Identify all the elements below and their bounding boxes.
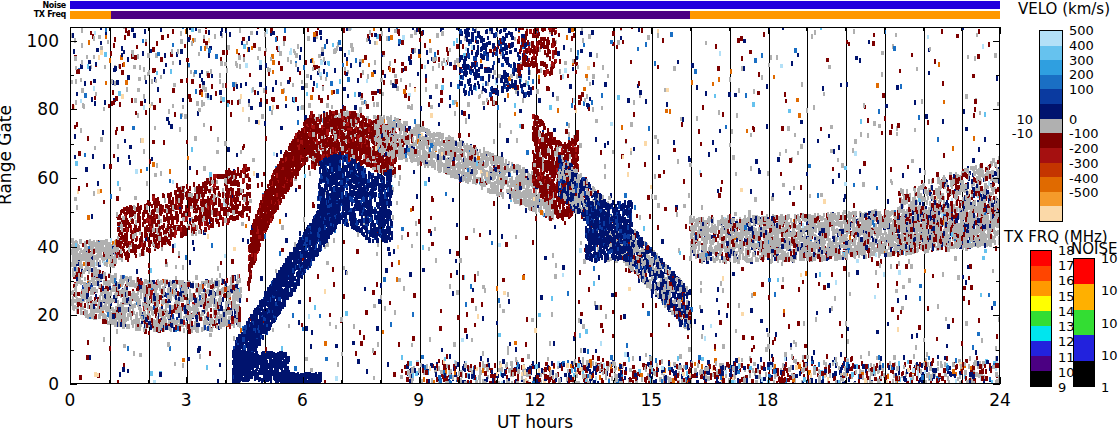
data-cell — [152, 228, 154, 233]
data-cell — [165, 325, 167, 330]
data-cell — [681, 122, 683, 127]
data-cell — [868, 40, 870, 45]
data-cell — [259, 338, 261, 343]
data-cell — [491, 241, 493, 246]
data-cell — [678, 303, 680, 308]
data-cell — [433, 160, 435, 165]
data-cell — [234, 319, 236, 324]
data-cell — [107, 321, 109, 326]
data-cell — [970, 285, 972, 290]
data-cell — [300, 245, 302, 250]
data-cell — [116, 196, 118, 201]
data-cell — [456, 270, 458, 275]
data-cell — [373, 70, 375, 75]
data-cell — [779, 381, 781, 383]
data-cell — [279, 358, 281, 363]
data-cell — [768, 278, 770, 283]
data-cell — [505, 180, 507, 185]
data-cell — [911, 205, 913, 210]
data-cell — [534, 204, 536, 209]
data-cell — [654, 284, 656, 289]
data-cell — [588, 34, 590, 39]
data-cell — [296, 160, 298, 165]
data-cell — [121, 232, 123, 237]
data-cell — [494, 363, 496, 368]
data-cell — [397, 245, 399, 250]
data-cell — [625, 367, 627, 372]
data-cell — [384, 148, 386, 153]
data-cell — [222, 279, 224, 284]
data-cell — [316, 376, 318, 381]
data-cell — [521, 124, 523, 129]
data-cell — [447, 381, 449, 383]
status-bar-segment — [111, 11, 690, 19]
data-cell — [516, 138, 518, 143]
data-cell — [724, 257, 726, 262]
data-cell — [327, 61, 329, 66]
data-cell — [795, 365, 797, 370]
data-cell — [408, 96, 410, 101]
data-cell — [599, 238, 601, 243]
data-cell — [910, 264, 912, 269]
data-cell — [74, 197, 76, 202]
data-cell — [425, 137, 427, 142]
data-cell — [482, 55, 484, 60]
data-cell — [783, 313, 785, 318]
data-cell — [473, 56, 475, 61]
data-cell — [285, 96, 287, 101]
data-cell — [502, 278, 504, 283]
data-cell — [439, 378, 441, 383]
data-cell — [763, 244, 765, 249]
data-cell — [677, 285, 679, 290]
data-cell — [315, 31, 317, 36]
data-cell — [735, 371, 737, 376]
data-cell — [149, 104, 151, 109]
data-cell — [585, 226, 587, 231]
data-cell — [952, 146, 954, 151]
data-cell — [677, 381, 679, 383]
data-cell — [249, 199, 251, 204]
data-cell — [94, 288, 96, 293]
data-cell — [329, 166, 331, 171]
data-cell — [234, 360, 236, 365]
data-cell — [704, 237, 706, 242]
data-cell — [680, 117, 682, 122]
data-cell — [856, 270, 858, 275]
data-cell — [226, 50, 228, 55]
data-cell — [141, 316, 143, 321]
data-cell — [246, 202, 248, 207]
data-cell — [281, 248, 283, 253]
data-cell — [286, 161, 288, 166]
data-cell — [719, 129, 721, 134]
data-cell — [187, 37, 189, 42]
data-cell — [341, 187, 343, 192]
data-cell — [545, 196, 547, 201]
data-cell — [411, 343, 413, 348]
data-cell — [400, 130, 402, 135]
data-cell — [832, 167, 834, 172]
data-cell — [829, 308, 831, 313]
data-cell — [281, 163, 283, 168]
data-cell — [509, 185, 511, 190]
data-cell — [744, 225, 746, 230]
data-cell — [312, 67, 314, 72]
data-cell — [301, 158, 303, 163]
data-cell — [142, 51, 144, 56]
colorbar-segment — [1040, 119, 1062, 134]
colorbar-segment — [1031, 296, 1051, 311]
data-cell — [224, 141, 226, 146]
data-cell — [791, 354, 793, 359]
data-cell — [346, 122, 348, 127]
data-cell — [330, 81, 332, 86]
data-cell — [333, 178, 335, 183]
data-cell — [506, 138, 508, 143]
data-cell — [287, 270, 289, 275]
data-cell — [270, 376, 272, 381]
data-cell — [287, 57, 289, 62]
data-cell — [517, 369, 519, 374]
data-cell — [447, 168, 449, 173]
data-cell — [897, 229, 899, 234]
data-cell — [975, 191, 977, 196]
data-cell — [290, 60, 292, 65]
data-cell — [661, 239, 663, 244]
data-cell — [218, 222, 220, 227]
data-cell — [892, 379, 894, 383]
data-cell — [781, 285, 783, 290]
data-cell — [218, 311, 220, 316]
data-cell — [194, 70, 196, 75]
data-cell — [658, 174, 660, 179]
data-cell — [512, 372, 514, 377]
data-cell — [84, 153, 86, 158]
data-cell — [841, 334, 843, 339]
data-cell — [441, 152, 443, 157]
data-cell — [755, 375, 757, 380]
data-cell — [605, 258, 607, 263]
data-cell — [925, 114, 927, 119]
data-cell — [376, 252, 378, 257]
data-cell — [473, 370, 475, 375]
data-cell — [322, 237, 324, 242]
data-cell — [144, 29, 146, 34]
data-cell — [265, 313, 267, 318]
data-cell — [412, 158, 414, 163]
data-cell — [743, 39, 745, 44]
data-cell — [917, 191, 919, 196]
data-cell — [615, 207, 617, 212]
data-cell — [335, 344, 337, 349]
data-cell — [896, 366, 898, 371]
data-cell — [597, 240, 599, 245]
data-cell — [805, 271, 807, 276]
data-cell — [403, 89, 405, 94]
data-cell — [361, 59, 363, 64]
data-cell — [538, 40, 540, 45]
data-cell — [125, 228, 127, 233]
data-cell — [219, 90, 221, 95]
data-cell — [130, 300, 132, 305]
data-cell — [195, 283, 197, 288]
data-cell — [295, 133, 297, 138]
data-cell — [891, 210, 893, 215]
data-cell — [311, 330, 313, 335]
data-cell — [701, 245, 703, 250]
data-cell — [172, 104, 174, 109]
data-cell — [522, 28, 524, 30]
data-cell — [887, 322, 889, 327]
data-cell — [852, 363, 854, 368]
data-cell — [977, 332, 979, 337]
data-cell — [332, 267, 334, 272]
data-cell — [710, 324, 712, 329]
data-cell — [699, 370, 701, 375]
data-cell — [881, 246, 883, 251]
data-cell — [280, 66, 282, 71]
data-cell — [906, 217, 908, 222]
data-cell — [148, 201, 150, 206]
data-cell — [447, 159, 449, 164]
data-cell — [819, 215, 821, 220]
data-cell — [453, 65, 455, 70]
data-cell — [691, 234, 693, 239]
data-cell — [384, 125, 386, 130]
data-cell — [742, 335, 744, 340]
data-cell — [180, 114, 182, 119]
data-cell — [646, 376, 648, 381]
data-cell — [362, 129, 364, 134]
data-cell — [877, 283, 879, 288]
data-cell — [287, 80, 289, 85]
data-cell — [435, 138, 437, 143]
data-cell — [340, 180, 342, 185]
data-cell — [257, 91, 259, 96]
data-cell — [99, 295, 101, 300]
data-cell — [743, 66, 745, 71]
data-cell — [689, 368, 691, 373]
data-cell — [322, 196, 324, 201]
data-cell — [547, 357, 549, 362]
data-cell — [160, 323, 162, 328]
data-cell — [390, 35, 392, 40]
data-cell — [71, 301, 73, 306]
data-cell — [683, 378, 685, 383]
data-cell — [651, 294, 653, 299]
data-cell — [920, 245, 922, 250]
data-cell — [859, 169, 861, 174]
data-cell — [750, 242, 752, 247]
data-cell — [405, 136, 407, 141]
data-cell — [179, 60, 181, 65]
data-cell — [694, 69, 696, 74]
data-cell — [947, 247, 949, 252]
data-cell — [367, 74, 369, 79]
data-cell — [605, 223, 607, 228]
data-cell — [164, 209, 166, 214]
data-cell — [166, 311, 168, 316]
data-cell — [877, 211, 879, 216]
data-cell — [329, 110, 331, 115]
data-cell — [132, 126, 134, 131]
data-cell — [219, 273, 221, 278]
data-cell — [387, 247, 389, 252]
data-cell — [177, 49, 179, 54]
data-cell — [500, 29, 502, 34]
data-cell — [702, 222, 704, 227]
data-cell — [456, 44, 458, 49]
data-cell — [343, 111, 345, 116]
data-cell — [978, 191, 980, 196]
data-cell — [583, 87, 585, 92]
data-cell — [114, 259, 116, 264]
data-cell — [108, 299, 110, 304]
data-cell — [878, 109, 880, 114]
data-cell — [844, 166, 846, 171]
data-cell — [536, 180, 538, 185]
data-cell — [301, 105, 303, 110]
data-cell — [870, 231, 872, 236]
data-cell — [675, 207, 677, 212]
data-cell — [992, 177, 994, 182]
data-cell — [621, 125, 623, 130]
data-cell — [997, 160, 999, 165]
data-cell — [721, 180, 723, 185]
data-cell — [998, 375, 999, 380]
data-cell — [194, 201, 196, 206]
data-cell — [94, 372, 96, 377]
data-cell — [826, 354, 828, 359]
data-cell — [914, 223, 916, 228]
x-axis-title: UT hours — [497, 412, 573, 432]
data-cell — [931, 185, 933, 190]
data-cell — [194, 38, 196, 43]
data-cell — [570, 48, 572, 53]
data-cell — [351, 145, 353, 150]
data-cell — [549, 136, 551, 141]
data-cell — [883, 373, 885, 378]
data-cell — [755, 233, 757, 238]
data-cell — [80, 311, 82, 316]
data-cell — [617, 247, 619, 252]
data-cell — [632, 235, 634, 240]
data-cell — [516, 170, 518, 175]
data-cell — [752, 252, 754, 257]
data-cell — [319, 196, 321, 201]
data-cell — [303, 138, 305, 143]
data-cell — [112, 314, 114, 319]
data-cell — [390, 211, 392, 216]
data-cell — [219, 363, 221, 368]
data-cell — [90, 31, 92, 36]
data-cell — [587, 200, 589, 205]
data-cell — [654, 61, 656, 66]
data-cell — [217, 266, 219, 271]
data-cell — [691, 363, 693, 368]
data-cell — [872, 220, 874, 225]
data-cell — [393, 169, 395, 174]
data-cell — [418, 54, 420, 59]
data-cell — [688, 347, 690, 352]
data-cell — [179, 209, 181, 214]
data-cell — [840, 352, 842, 357]
data-cell — [993, 301, 995, 306]
data-cell — [240, 150, 242, 155]
data-cell — [518, 36, 520, 41]
data-cell — [157, 220, 159, 225]
data-cell — [535, 216, 537, 221]
data-cell — [335, 158, 337, 163]
data-cell — [957, 234, 959, 239]
data-cell — [780, 64, 782, 69]
data-cell — [307, 36, 309, 41]
data-cell — [632, 356, 634, 361]
data-cell — [681, 281, 683, 286]
data-cell — [738, 88, 740, 93]
data-cell — [994, 162, 996, 167]
data-cell — [425, 78, 427, 83]
data-cell — [535, 63, 537, 68]
data-cell — [782, 183, 784, 188]
data-cell — [558, 378, 560, 383]
data-cell — [774, 257, 776, 262]
data-cell — [503, 380, 505, 383]
data-cell — [917, 216, 919, 221]
data-cell — [542, 144, 544, 149]
data-cell — [910, 247, 912, 252]
data-cell — [453, 41, 455, 46]
data-cell — [459, 258, 461, 263]
data-cell — [558, 181, 560, 186]
data-cell — [80, 128, 82, 133]
data-cell — [629, 229, 631, 234]
y-tick-label: 100 — [0, 31, 59, 51]
data-cell — [767, 333, 769, 338]
data-cell — [482, 316, 484, 321]
data-cell — [174, 362, 176, 367]
data-cell — [176, 216, 178, 221]
data-cell — [544, 28, 546, 31]
data-cell — [937, 304, 939, 309]
data-cell — [526, 317, 528, 322]
data-cell — [319, 179, 321, 184]
data-cell — [911, 159, 913, 164]
data-cell — [376, 102, 378, 107]
data-cell — [322, 143, 324, 148]
data-cell — [896, 281, 898, 286]
data-cell — [452, 165, 454, 170]
data-cell — [583, 181, 585, 186]
data-cell — [824, 233, 826, 238]
data-cell — [72, 104, 74, 109]
data-cell — [201, 100, 203, 105]
data-cell — [245, 63, 247, 68]
data-cell — [840, 83, 842, 88]
data-cell — [219, 73, 221, 78]
data-cell — [580, 31, 582, 36]
colorbar-segment — [1031, 356, 1051, 371]
data-cell — [261, 182, 263, 187]
data-cell — [644, 266, 646, 271]
data-cell — [257, 364, 259, 369]
data-cell — [787, 241, 789, 246]
data-cell — [507, 73, 509, 78]
data-cell — [140, 294, 142, 299]
data-cell — [650, 378, 652, 383]
data-cell — [239, 323, 241, 328]
